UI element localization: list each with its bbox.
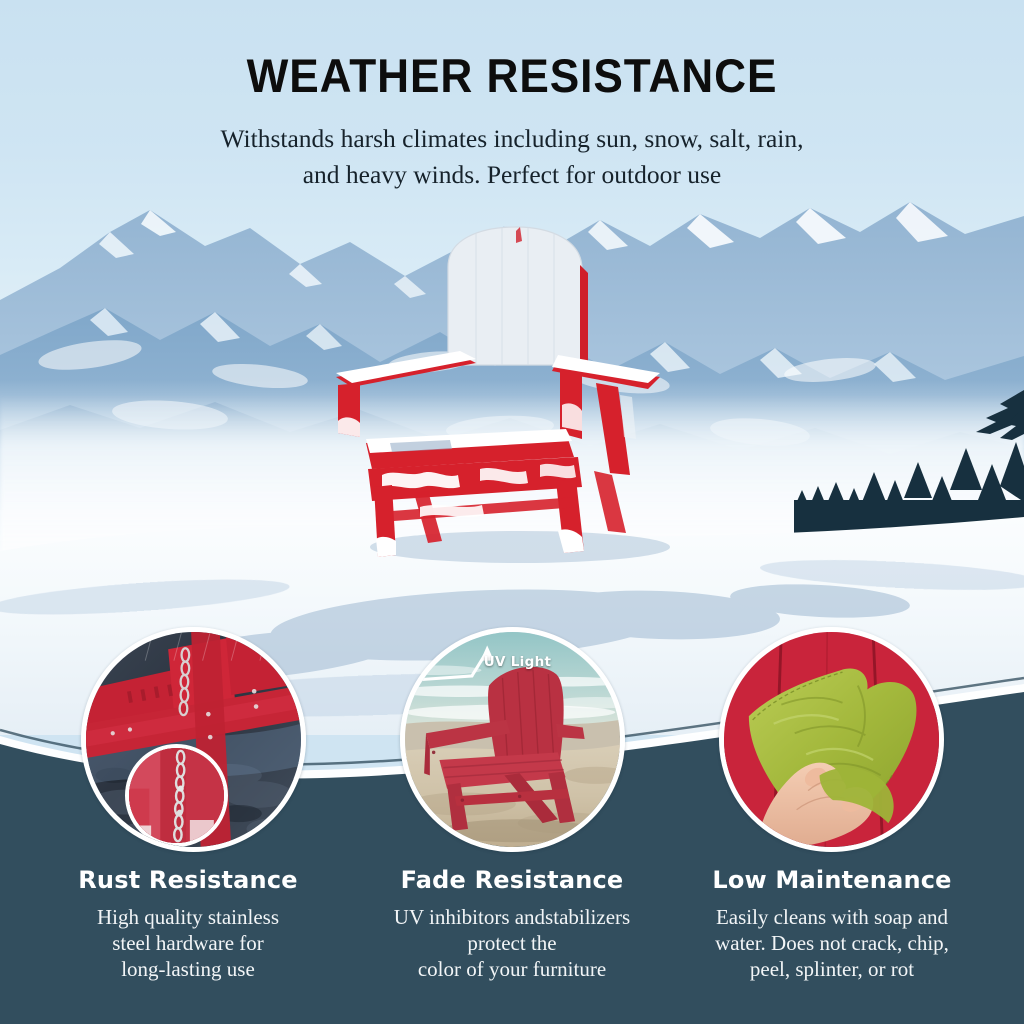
feature-title-low-maintenance: Low Maintenance xyxy=(672,866,992,894)
feature-description-fade-resistance: UV inhibitors andstabilizers protect the… xyxy=(352,904,672,982)
desc-line: color of your furniture xyxy=(418,957,606,981)
page-title: WEATHER RESISTANCE xyxy=(31,48,994,103)
subtitle-line-2: and heavy winds. Perfect for outdoor use xyxy=(0,157,1024,193)
subtitle-line-1: Withstands harsh climates including sun,… xyxy=(0,121,1024,157)
desc-line: peel, splinter, or rot xyxy=(750,957,914,981)
uv-light-annotation: UV Light xyxy=(405,654,625,670)
feature-image-fade-resistance: UV Light xyxy=(400,627,625,852)
infographic-canvas: WEATHER RESISTANCE Withstands harsh clim… xyxy=(0,0,1024,1024)
desc-line: protect the xyxy=(467,931,556,955)
feature-title-rust-resistance: Rust Resistance xyxy=(28,866,348,894)
feature-description-low-maintenance: Easily cleans with soap and water. Does … xyxy=(672,904,992,982)
desc-line: Easily cleans with soap and xyxy=(716,905,948,929)
page-subtitle: Withstands harsh climates including sun,… xyxy=(0,121,1024,193)
desc-line: UV inhibitors andstabilizers xyxy=(394,905,630,929)
feature-description-rust-resistance: High quality stainless steel hardware fo… xyxy=(28,904,348,982)
hero-snow-covered-chair xyxy=(330,225,695,570)
feature-caption-fade-resistance: Fade Resistance UV inhibitors andstabili… xyxy=(352,866,672,982)
feature-title-fade-resistance: Fade Resistance xyxy=(352,866,672,894)
chain-closeup-photo xyxy=(129,748,224,843)
feature-caption-rust-resistance: Rust Resistance High quality stainless s… xyxy=(28,866,348,982)
desc-line: High quality stainless xyxy=(97,905,279,929)
feature-caption-low-maintenance: Low Maintenance Easily cleans with soap … xyxy=(672,866,992,982)
desc-line: steel hardware for xyxy=(112,931,264,955)
feature-image-rust-resistance xyxy=(81,627,306,852)
desc-line: water. Does not crack, chip, xyxy=(715,931,949,955)
desc-line: long-lasting use xyxy=(121,957,255,981)
cloth-cleaning-photo xyxy=(724,632,939,847)
magnified-chain-inset xyxy=(125,744,228,847)
feature-image-low-maintenance xyxy=(719,627,944,852)
